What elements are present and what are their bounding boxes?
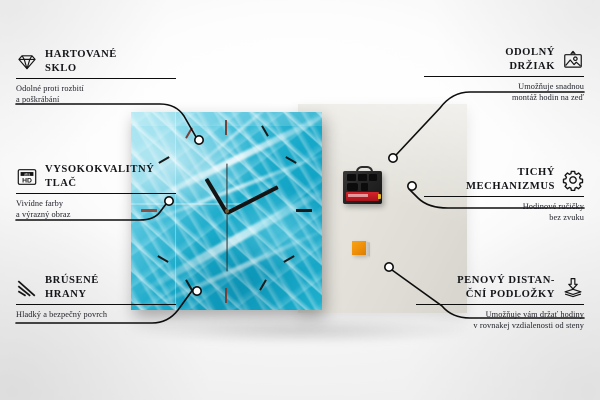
callout-title: VYSOKOKVALITNÝ TLAČ xyxy=(45,163,154,190)
foam-spacer-pad xyxy=(352,241,366,255)
callout-foam-spacers[interactable]: PENOVÝ DISTAN- ČNÍ PODLOŽKY Umožňuje vám… xyxy=(416,274,584,331)
clock-hand-sweep-upper xyxy=(226,164,227,212)
callout-desc-line: v rovnakej vzdialenosti od steny xyxy=(416,320,584,331)
callout-heading: BRÚSENÉ HRANY xyxy=(16,274,176,301)
callout-desc-line: bez zvuku xyxy=(424,212,584,223)
callout-desc-line: Vivídne farby xyxy=(16,198,176,209)
battery xyxy=(346,192,379,201)
svg-text:HD: HD xyxy=(22,177,32,184)
callout-desc-line: a výrazný obraz xyxy=(16,209,176,220)
callout-ground-edges[interactable]: BRÚSENÉ HRANY Hladký a bezpečný povrch xyxy=(16,274,176,320)
mechanism-detail xyxy=(347,183,358,191)
callout-title: BRÚSENÉ HRANY xyxy=(45,274,99,301)
callout-desc-line: montáž hodin na zeď xyxy=(424,92,584,103)
callout-divider xyxy=(416,304,584,305)
callout-divider xyxy=(424,196,584,197)
hanging-picture-frame-icon xyxy=(562,49,584,71)
mechanism-detail xyxy=(347,174,356,181)
callout-divider xyxy=(16,304,176,305)
clock-mechanism xyxy=(343,166,382,204)
mechanism-detail xyxy=(358,174,367,181)
callout-title: ODOLNÝ DRŽIAK xyxy=(505,46,555,73)
mechanism-detail xyxy=(369,174,377,181)
ultra-hd-icon: ultra HD xyxy=(16,166,38,188)
callout-durable-holder[interactable]: ODOLNÝ DRŽIAK Umožňuje snadnou montáž ho… xyxy=(424,46,584,103)
callout-desc-line: Hodinové ručičky xyxy=(424,201,584,212)
callout-divider xyxy=(16,193,176,194)
callout-divider xyxy=(424,76,584,77)
callout-heading: TICHÝ MECHANIZMUS xyxy=(424,166,584,193)
callout-heading: ultra HD VYSOKOKVALITNÝ TLAČ xyxy=(16,163,176,190)
callout-desc-line: Umožňuje snadnou xyxy=(424,81,584,92)
mechanism-detail xyxy=(361,183,368,191)
callout-divider xyxy=(16,78,176,79)
clock-tick xyxy=(225,120,227,135)
press-down-layers-icon xyxy=(562,277,584,299)
battery-label xyxy=(348,194,368,197)
infographic-canvas: HARTOVANÉ SKLO Odolné proti rozbití a po… xyxy=(0,0,600,400)
mechanism-housing xyxy=(343,171,382,204)
callout-heading: ODOLNÝ DRŽIAK xyxy=(424,46,584,73)
callout-desc-line: Odolné proti rozbití xyxy=(16,83,176,94)
gear-icon xyxy=(562,169,584,191)
callout-desc-line: Umožňuje vám držať hodiny xyxy=(416,309,584,320)
callout-title: PENOVÝ DISTAN- ČNÍ PODLOŽKY xyxy=(457,274,555,301)
clock-tick xyxy=(296,209,312,212)
svg-text:ultra: ultra xyxy=(24,172,30,176)
callout-desc-line: Hladký a bezpečný povrch xyxy=(16,309,176,320)
callout-heading: PENOVÝ DISTAN- ČNÍ PODLOŽKY xyxy=(416,274,584,301)
clock-center-pin xyxy=(225,209,229,213)
callout-heading: HARTOVANÉ SKLO xyxy=(16,48,176,75)
callout-desc-line: a poškrábání xyxy=(16,94,176,105)
callout-silent-mechanism[interactable]: TICHÝ MECHANIZMUS Hodinové ručičky bez z… xyxy=(424,166,584,223)
callout-hardened-glass[interactable]: HARTOVANÉ SKLO Odolné proti rozbití a po… xyxy=(16,48,176,105)
diamond-icon xyxy=(16,51,38,73)
callout-title: HARTOVANÉ SKLO xyxy=(45,48,117,75)
callout-title: TICHÝ MECHANIZMUS xyxy=(466,166,555,193)
clock-tick xyxy=(225,288,227,303)
clock-hand-second xyxy=(226,212,227,272)
callout-high-quality-print[interactable]: ultra HD VYSOKOKVALITNÝ TLAČ Vivídne far… xyxy=(16,163,176,220)
diagonal-stripes-icon xyxy=(16,277,38,299)
